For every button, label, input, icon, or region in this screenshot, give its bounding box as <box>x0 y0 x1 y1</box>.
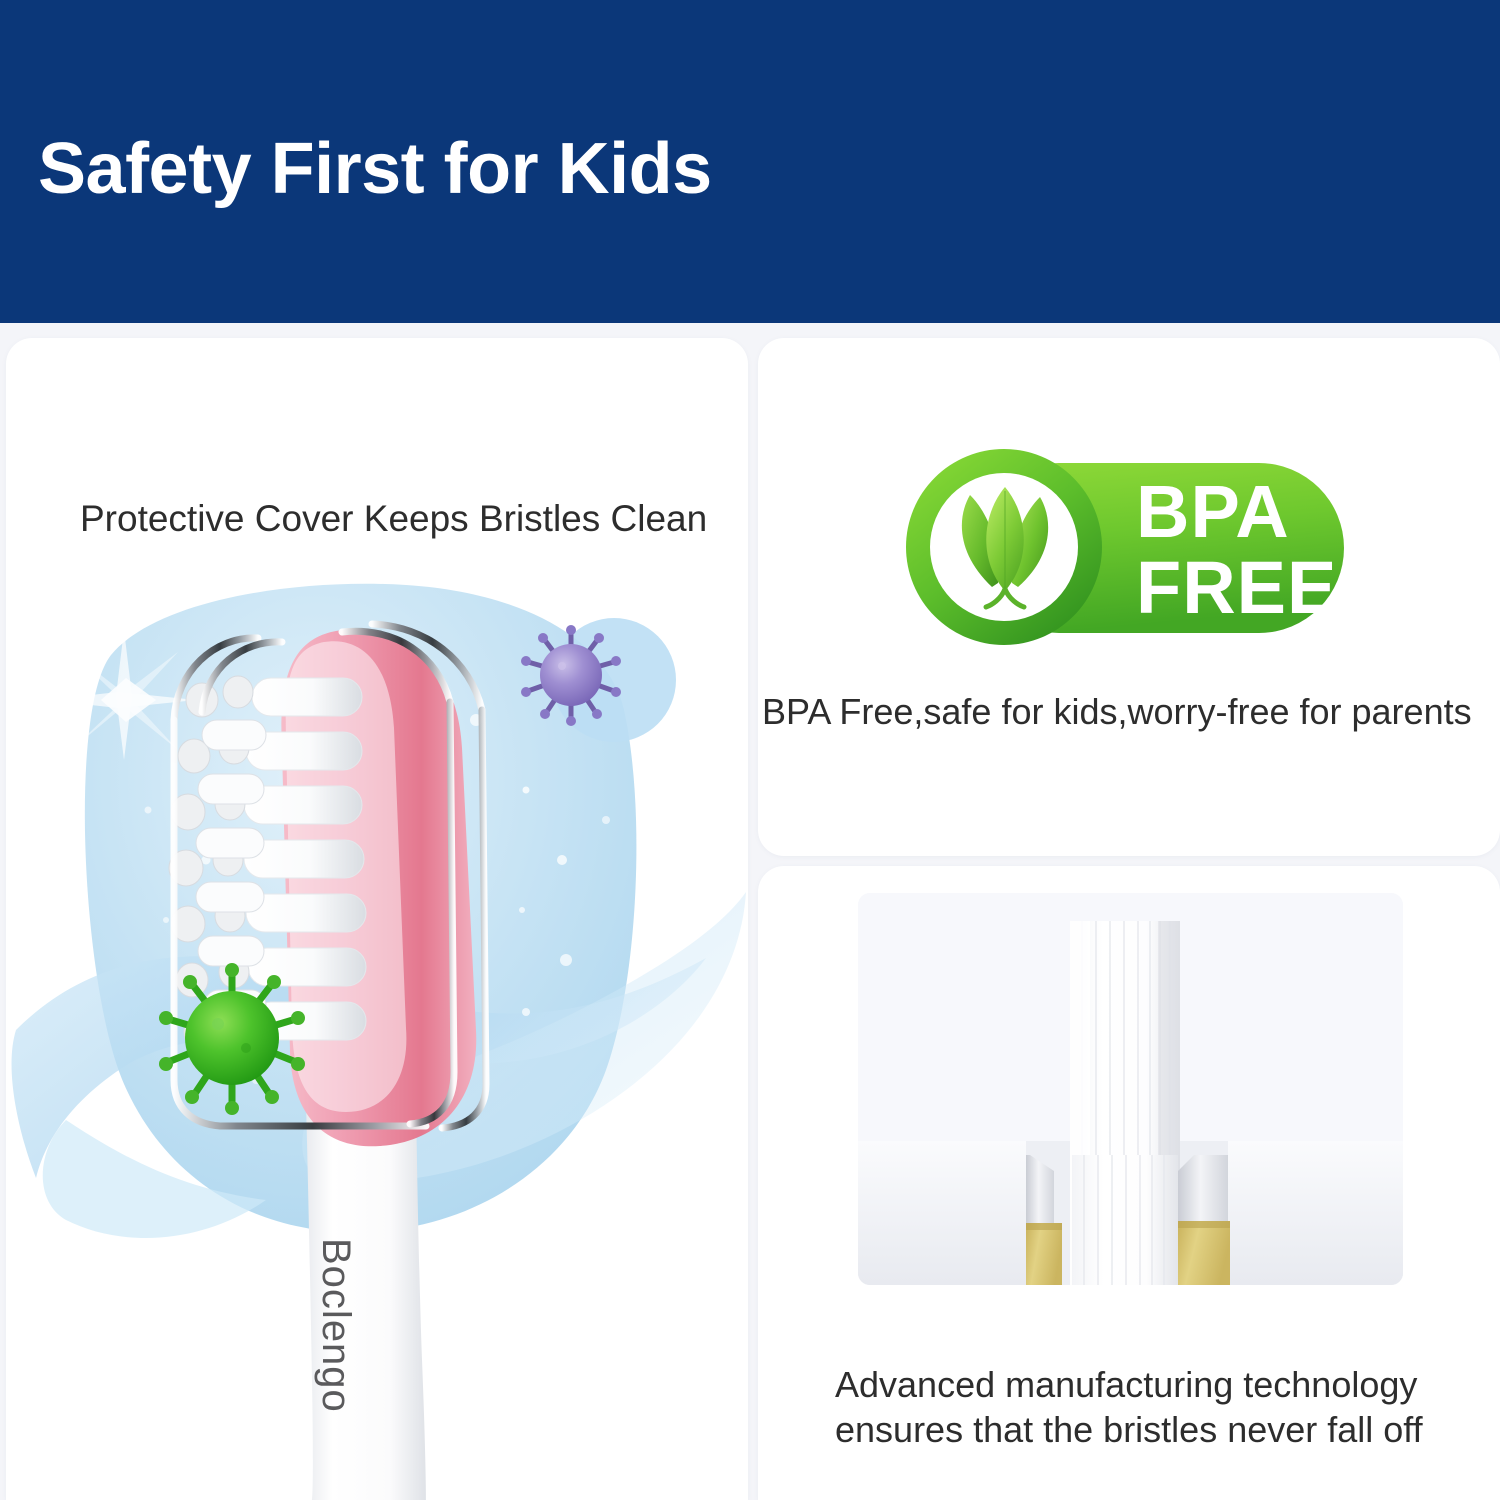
bpa-badge-line1: BPA <box>1136 470 1290 553</box>
bristle-caption-line-2: ensures that the bristles never fall off <box>835 1407 1423 1453</box>
bristle-anchor-illustration <box>858 893 1403 1285</box>
bpa-free-caption: BPA Free,safe for kids,worry-free for pa… <box>762 691 1472 733</box>
page-header: Safety First for Kids <box>0 0 1500 323</box>
bpa-badge-line2: FREE <box>1136 546 1337 629</box>
protective-cover-caption: Protective Cover Keeps Bristles Clean <box>80 498 707 540</box>
bpa-badge-graphic: BPA FREE <box>900 443 1350 651</box>
protective-cover-illustration <box>6 560 748 1500</box>
bristle-anchor-graphic <box>858 893 1403 1285</box>
bristle-anchor-caption: Advanced manufacturing technology ensure… <box>835 1316 1423 1499</box>
page-title: Safety First for Kids <box>38 133 712 205</box>
toothbrush-cover-graphic <box>6 560 748 1500</box>
bristle-caption-line-1: Advanced manufacturing technology <box>835 1364 1417 1405</box>
anchor-staple-right <box>1178 1155 1230 1285</box>
bpa-free-badge: BPA FREE <box>900 443 1350 651</box>
brand-label: Boclengo <box>313 1238 358 1413</box>
